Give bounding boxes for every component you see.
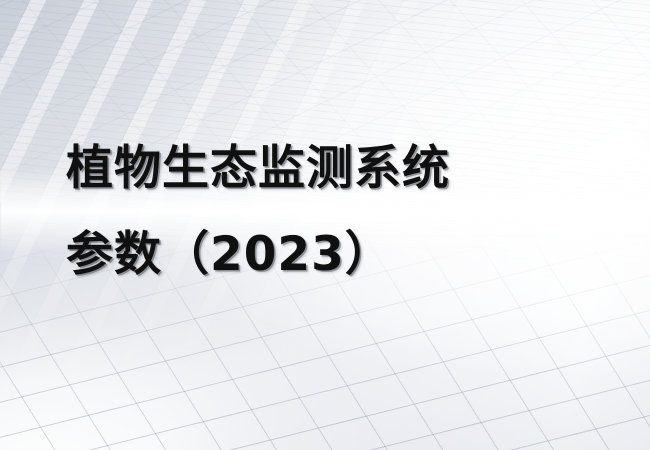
page-title: 植物生态监测系统 参数（2023） — [66, 126, 586, 298]
title-line-1: 植物生态监测系统 — [66, 126, 586, 212]
title-slide: 植物生态监测系统 参数（2023） — [0, 0, 650, 450]
title-line-2: 参数（2023） — [66, 212, 586, 298]
